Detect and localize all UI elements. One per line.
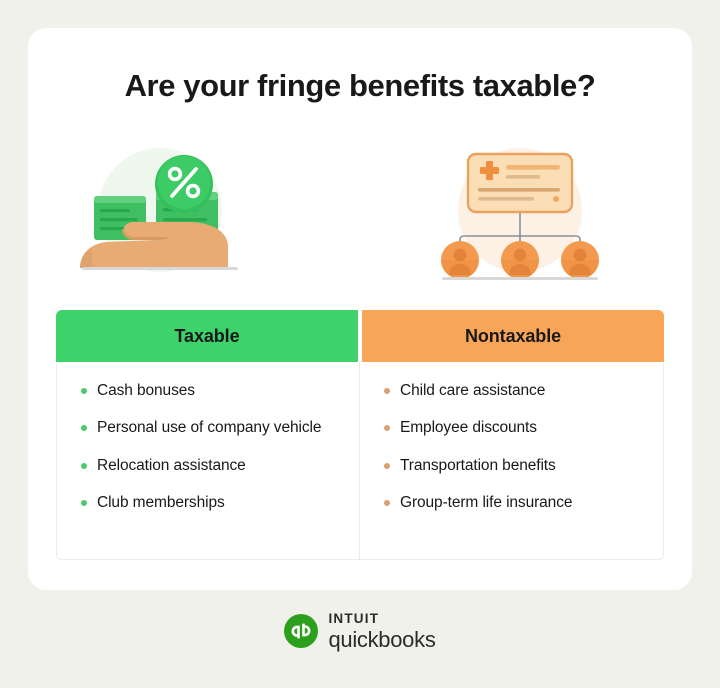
list-item: Cash bonuses [81, 380, 337, 402]
ground-line [442, 277, 598, 280]
list-item: Group-term life insurance [384, 492, 641, 514]
bullet-icon [384, 388, 390, 394]
table-body: Cash bonuses Personal use of company veh… [56, 362, 664, 560]
ground-line [82, 267, 238, 270]
insurance-card [468, 154, 572, 212]
taxable-items-column: Cash bonuses Personal use of company veh… [57, 362, 360, 559]
intuit-quickbooks-logo: INTUIT quickbooks [0, 612, 720, 651]
nontaxable-items-column: Child care assistance Employee discounts… [360, 362, 663, 559]
percent-coin-icon [155, 155, 213, 213]
content-card: Are your fringe benefits taxable? [28, 28, 692, 590]
infographic-canvas: Are your fringe benefits taxable? [0, 0, 720, 688]
list-item: Personal use of company vehicle [81, 417, 337, 439]
taxable-comparison-table: Taxable Nontaxable Cash bonuses Personal… [56, 310, 664, 560]
bullet-icon [384, 463, 390, 469]
list-item: Employee discounts [384, 417, 641, 439]
column-header-nontaxable: Nontaxable [362, 310, 664, 362]
bullet-icon [81, 388, 87, 394]
list-item: Club memberships [81, 492, 337, 514]
quickbooks-logo-icon [284, 614, 318, 648]
illustrations-row [28, 136, 692, 296]
bullet-icon [384, 500, 390, 506]
brand-intuit: INTUIT [328, 612, 435, 626]
column-header-taxable: Taxable [56, 310, 358, 362]
bullet-icon [81, 500, 87, 506]
bullet-icon [81, 463, 87, 469]
list-item: Relocation assistance [81, 455, 337, 477]
brand-quickbooks: quickbooks [328, 629, 435, 651]
avatar [441, 241, 479, 279]
page-title: Are your fringe benefits taxable? [28, 68, 692, 104]
brand-wordmark: INTUIT quickbooks [328, 612, 435, 651]
table-header-row: Taxable Nontaxable [56, 310, 664, 362]
list-item: Child care assistance [384, 380, 641, 402]
bullet-icon [81, 425, 87, 431]
insurance-card-with-three-people-illustration [420, 136, 620, 296]
hand-holding-money-with-percent-coin-illustration [60, 136, 260, 296]
avatar [501, 241, 539, 279]
bullet-icon [384, 425, 390, 431]
avatar-group [441, 241, 599, 279]
avatar [561, 241, 599, 279]
list-item: Transportation benefits [384, 455, 641, 477]
